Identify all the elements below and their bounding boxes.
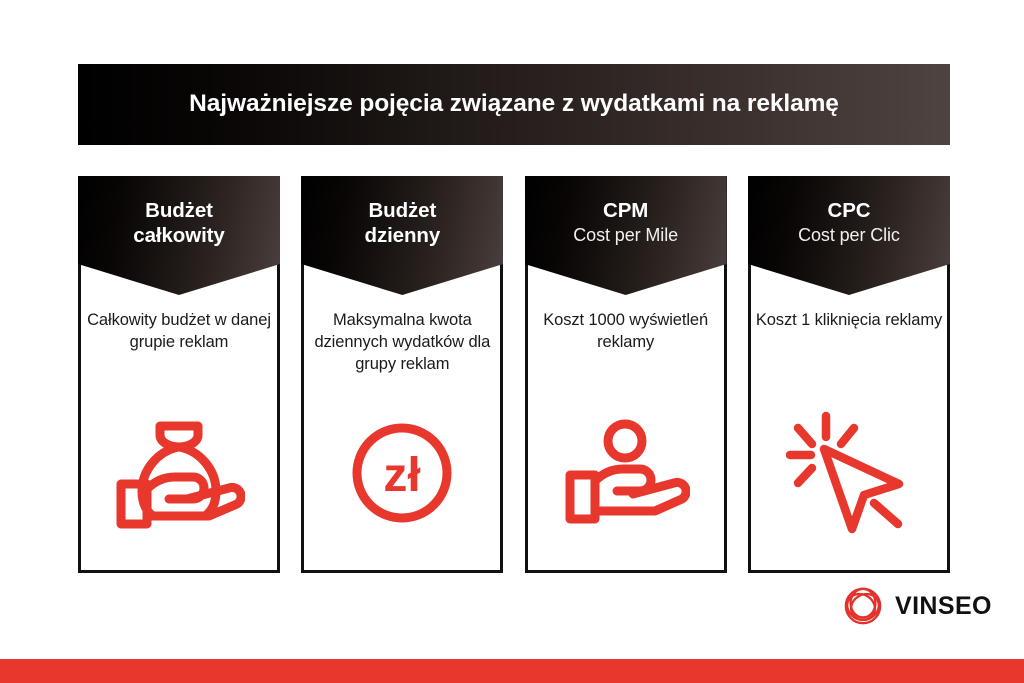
card-subtitle: Cost per Clic xyxy=(798,225,900,247)
brand-logo: VINSEO xyxy=(842,585,992,627)
card-description: Koszt 1 kliknięcia reklamy xyxy=(754,310,944,332)
card-subtitle: Cost per Mile xyxy=(573,225,678,247)
card-title-line1: Budżet xyxy=(145,199,213,222)
infographic-root: Najważniejsze pojęcia związane z wydatka… xyxy=(0,0,1024,683)
card-budzet-calkowity: Budżet całkowity Całkowity budżet w dane… xyxy=(78,176,280,573)
card-row: Budżet całkowity Całkowity budżet w dane… xyxy=(78,176,950,573)
click-cursor-icon xyxy=(748,413,950,533)
brand-name: VINSEO xyxy=(895,592,992,621)
title-banner: Najważniejsze pojęcia związane z wydatka… xyxy=(78,64,950,145)
card-title-line2: dzienny xyxy=(365,224,441,247)
money-bag-in-hand-icon xyxy=(78,413,280,533)
vinseo-rosette-icon xyxy=(842,585,884,627)
card-title: Budżet całkowity xyxy=(133,198,224,248)
page-title: Najważniejsze pojęcia związane z wydatka… xyxy=(189,91,839,118)
card-description: Maksymalna kwota dziennych wydatków dla … xyxy=(307,310,497,376)
card-title: Budżet dzienny xyxy=(365,198,441,248)
card-description: Całkowity budżet w danej grupie reklam xyxy=(84,310,274,354)
zloty-coin-icon: zł xyxy=(301,413,503,533)
card-budzet-dzienny: Budżet dzienny Maksymalna kwota dziennyc… xyxy=(301,176,503,573)
card-title-line1: Budżet xyxy=(368,199,436,222)
card-title-line2: całkowity xyxy=(133,224,224,247)
card-cpc: CPC Cost per Clic Koszt 1 kliknięcia rek… xyxy=(748,176,950,573)
bottom-accent-bar xyxy=(0,659,1024,683)
card-title: CPC xyxy=(827,198,870,223)
zloty-symbol: zł xyxy=(384,449,421,502)
card-title: CPM xyxy=(603,198,648,223)
impression-in-hand-icon xyxy=(525,413,727,533)
card-description: Koszt 1000 wyświetleń reklamy xyxy=(531,310,721,354)
card-cpm: CPM Cost per Mile Koszt 1000 wyświetleń … xyxy=(525,176,727,573)
